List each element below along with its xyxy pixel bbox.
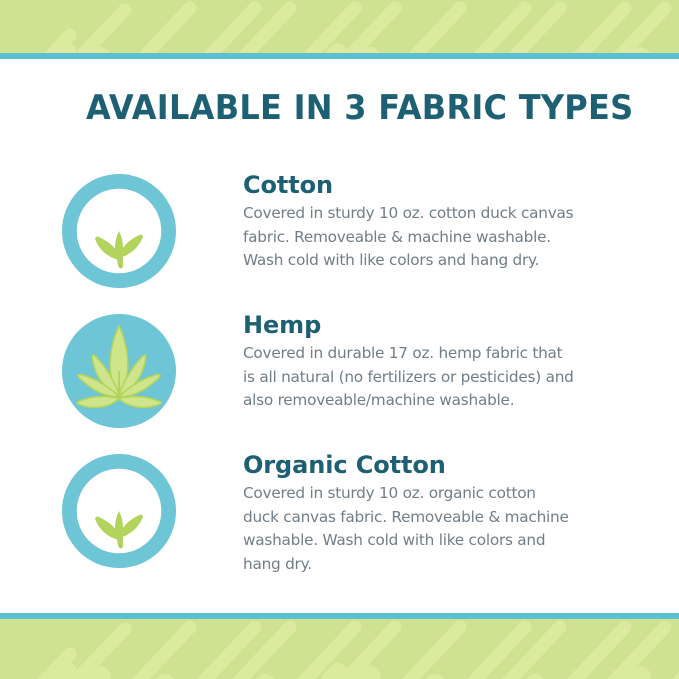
fabric-name: Cotton <box>243 172 643 198</box>
fabric-name: Hemp <box>243 312 643 338</box>
bottom-decorative-band <box>0 619 679 679</box>
fabric-text-organic-cotton: Organic Cotton Covered in sturdy 10 oz. … <box>243 452 643 576</box>
cotton-boll-icon <box>60 452 178 570</box>
cotton-boll-icon <box>60 172 178 290</box>
top-teal-rule <box>0 53 679 59</box>
fabric-text-hemp: Hemp Covered in durable 17 oz. hemp fabr… <box>243 312 643 413</box>
fabric-description: Covered in sturdy 10 oz. organic cotton … <box>243 482 643 576</box>
fabric-text-cotton: Cotton Covered in sturdy 10 oz. cotton d… <box>243 172 643 273</box>
top-decorative-band <box>0 0 679 53</box>
diagonal-stripe-pattern-icon <box>0 0 679 53</box>
page-title: AVAILABLE IN 3 FABRIC TYPES <box>86 88 634 127</box>
fabric-description: Covered in sturdy 10 oz. cotton duck can… <box>243 202 643 273</box>
infographic-page: AVAILABLE IN 3 FABRIC TYPES Cotton Cover… <box>0 0 679 679</box>
hemp-leaf-icon <box>60 312 178 430</box>
fabric-description: Covered in durable 17 oz. hemp fabric th… <box>243 342 643 413</box>
diagonal-stripe-pattern-icon <box>0 619 679 679</box>
fabric-name: Organic Cotton <box>243 452 643 478</box>
